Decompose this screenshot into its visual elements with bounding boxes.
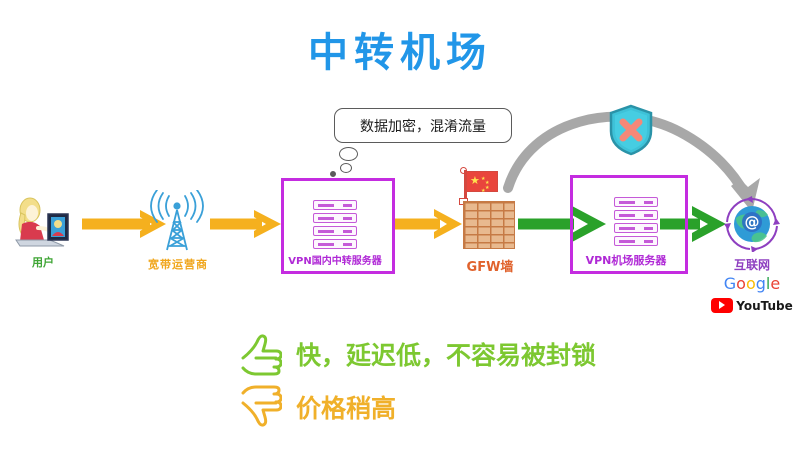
google-letter-1: G (724, 274, 736, 293)
google-logo: Google (712, 274, 792, 293)
pro-row: 快，延迟低，不容易被封锁 (240, 332, 596, 376)
brick-wall-icon (463, 201, 515, 249)
google-letter-4: g (756, 274, 766, 293)
svg-text:@: @ (745, 213, 760, 231)
bubble-tail-dot-large (339, 147, 358, 161)
speech-bubble-text: 数据加密，混淆流量 (360, 116, 486, 136)
internet-label: 互联网 (712, 256, 792, 273)
internet-node: @ (724, 196, 780, 252)
bubble-tail-dot-medium (340, 163, 352, 173)
page-title: 中转机场 (0, 20, 800, 78)
thumbs-up-icon (240, 332, 282, 376)
google-letter-6: e (770, 274, 780, 293)
relay-server-label: VPN国内中转服务器 (276, 252, 394, 267)
thumbs-down-icon (240, 385, 282, 429)
con-row: 价格稍高 (240, 385, 396, 429)
youtube-wordmark: YouTube (736, 299, 793, 313)
arrow-isp-to-relay (210, 210, 281, 238)
isp-label: 宽带运营商 (128, 256, 228, 272)
user-node (8, 196, 78, 250)
gfw-label: GFW墙 (448, 256, 532, 275)
google-letter-2: o (736, 274, 746, 293)
youtube-play-icon (711, 298, 733, 313)
arrow-relay-to-gfw (392, 209, 462, 239)
con-text: 价格稍高 (296, 389, 396, 425)
speech-bubble: 数据加密，混淆流量 (334, 108, 512, 143)
china-flag-icon: ★★★ ★★ (466, 171, 498, 192)
shield-x-icon (608, 104, 654, 156)
person-at-laptop-icon (8, 196, 78, 250)
globe-at-icon: @ (724, 196, 780, 252)
radio-tower-icon (145, 190, 209, 252)
isp-node (145, 190, 209, 252)
pro-text: 快，延迟低，不容易被封锁 (296, 336, 596, 372)
server-rack-icon-airport (614, 197, 658, 247)
google-letter-3: o (746, 274, 756, 293)
diagram-canvas: 中转机场 (0, 0, 800, 449)
youtube-logo: YouTube (712, 297, 792, 314)
server-rack-icon-relay (313, 200, 357, 250)
user-label: 用户 (8, 254, 78, 270)
airport-server-label: VPN机场服务器 (566, 252, 686, 268)
bubble-tail-dot-small (330, 171, 336, 177)
